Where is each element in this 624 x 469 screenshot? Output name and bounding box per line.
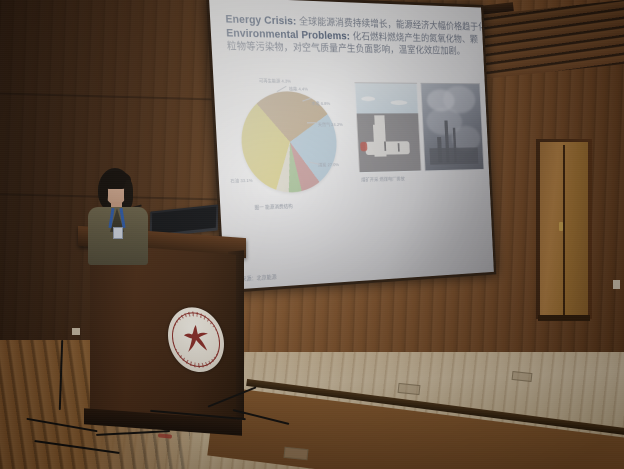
figure-shape [398,143,400,151]
pit-shape [365,141,410,155]
pie-label-5: 石油 33.1% [230,178,253,185]
door-sill [538,315,590,321]
slide-content: Energy Crisis: 全球能源消费持续增长，能源经济大幅价格趋于化石燃料… [209,0,494,290]
slide-photos [354,82,484,173]
photo-power-plant-smoke [420,83,484,172]
crest-bird-icon [183,322,210,356]
cloud-shape [390,100,407,105]
power-outlet-icon [72,328,80,335]
floor-outlet-plate [398,383,421,395]
laptop-screen [152,207,216,235]
plant-building [429,147,478,164]
university-crest-icon [167,304,224,376]
slide-colon: : [293,16,297,28]
hair-side-left [100,180,108,206]
photo-caption: 煤矿开采 燃煤电厂排放 [361,176,405,184]
pie-label-1: 核能 4.4% [289,87,308,93]
pie-label-0: 可再生能源 4.3% [259,78,291,84]
slide-keyword-environmental-problems: Environmental Problems [226,27,347,42]
red-marker [360,142,367,152]
slide-body: 可再生能源 4.3% 核能 4.4% 水电 6.8% 天然气 24.2% 煤炭 … [227,75,486,281]
pie-label-4: 煤炭 27.0% [318,162,339,168]
screen-surface: Energy Crisis: 全球能源消费持续增长，能源经济大幅价格趋于化石燃料… [209,0,494,290]
slide-keyword-energy-crisis: Energy Crisis [225,13,293,27]
pie-label-3: 天然气 24.2% [318,122,343,128]
pie-leader-line [307,122,318,123]
slide-source: 来源：北京能源 [241,273,277,283]
pie-label-2: 水电 6.8% [311,101,330,107]
projection-screen: Energy Crisis: 全球能源消费持续增长，能源经济大幅价格趋于化石燃料… [206,0,496,293]
conference-hall-photo: Energy Crisis: 全球能源消费持续增长，能源经济大幅价格趋于化石燃料… [0,0,624,469]
floor-outlet-plate [283,447,308,460]
pie-chart-caption: 图一 能源消费结构 [254,203,293,211]
floor-outlet-plate [512,371,533,382]
pit-shape [374,115,385,132]
pie-chart: 可再生能源 4.3% 核能 4.4% 水电 6.8% 天然气 24.2% 煤炭 … [231,79,354,214]
slide-colon: : [346,30,350,42]
door-handle[interactable] [559,222,563,231]
hair-side-right [124,180,133,208]
cloud-shape [361,96,375,101]
photo-coal-mine [354,82,421,173]
name-badge [113,227,123,239]
power-outlet-icon [613,280,620,289]
presenter [86,168,152,264]
door-center-split [563,145,565,315]
